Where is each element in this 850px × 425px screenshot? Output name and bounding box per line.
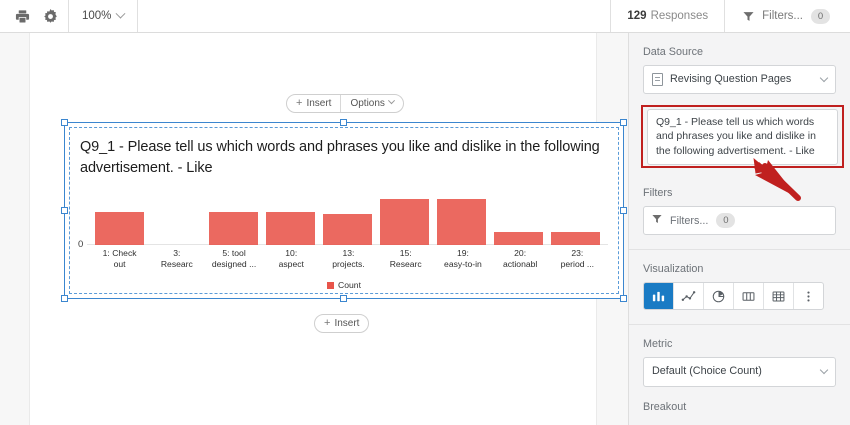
bar[interactable] [209,212,257,245]
x-axis-label: 5: tooldesigned ... [205,248,262,270]
data-source-value: Revising Question Pages [670,72,814,87]
x-axis-label: 23:period ... [549,248,606,270]
filters-badge: 0 [716,213,735,228]
chart-legend: Count [70,280,618,290]
right-settings-panel: Data Source Revising Question Pages Filt… [628,33,850,425]
x-axis-label: 13:projects. [320,248,377,270]
bar-cell[interactable] [376,199,433,245]
legend-swatch-count [327,282,334,289]
bar-series-count [91,199,604,245]
options-button[interactable]: Options [341,95,402,112]
bar[interactable] [95,212,143,245]
bar[interactable] [266,212,314,245]
line-chart-icon[interactable] [674,283,704,309]
insert-options-toolbar: + Insert Options [286,94,404,113]
resize-handle-top-right[interactable] [620,119,627,126]
bar-cell[interactable] [319,199,376,245]
toolbar-icon-group [0,0,68,32]
data-source-label: Data Source [643,46,836,58]
x-axis-labels: 1: Checkout3:Researc5: tooldesigned ...1… [91,248,606,270]
bar-chart-icon[interactable] [644,283,674,309]
resize-handle-bottom-center[interactable] [340,295,347,302]
bar-cell[interactable] [490,199,547,245]
zoom-level-value: 100% [82,10,111,22]
metric-value: Default (Choice Count) [652,364,814,379]
x-axis-label: 1: Checkout [91,248,148,270]
app-root: 100% 129 Responses Filters... 0 [0,0,850,425]
toolbar-filters-badge: 0 [811,9,830,24]
metric-select[interactable]: Default (Choice Count) [643,357,836,386]
document-icon [652,73,663,86]
chevron-down-icon [820,366,828,374]
options-label: Options [350,98,384,109]
filter-funnel-icon [743,11,754,22]
insert-above-label: Insert [306,98,331,109]
bar-cell[interactable] [91,199,148,245]
filters-select[interactable]: Filters... 0 [643,206,836,235]
plus-icon: + [324,318,330,329]
bar[interactable] [380,199,428,245]
insert-below-label: Insert [334,318,359,329]
gear-icon[interactable] [42,8,59,25]
filters-value: Filters... [670,215,708,227]
x-axis-label: 3:Researc [148,248,205,270]
bar-cell[interactable] [148,199,205,245]
report-canvas[interactable]: + Insert Options Q9 [0,33,628,425]
pie-chart-icon[interactable] [704,283,734,309]
insert-below-button[interactable]: + Insert [315,315,368,332]
bar-cell[interactable] [262,199,319,245]
resize-handle-top-left[interactable] [61,119,68,126]
data-source-section: Data Source Revising Question Pages [629,33,850,104]
filter-funnel-icon [652,214,662,227]
metric-label: Metric [643,338,836,350]
visualization-section: Visualization [629,250,850,325]
toolbar-filters-label: Filters... [762,10,803,22]
more-options-icon[interactable] [794,283,823,309]
insert-below-toolbar: + Insert [314,314,369,333]
zoom-level-dropdown[interactable]: 100% [69,0,137,32]
chevron-down-icon [116,8,126,18]
insert-above-button[interactable]: + Insert [287,95,340,112]
bar[interactable] [437,199,485,245]
resize-handle-top-center[interactable] [340,119,347,126]
visualization-label: Visualization [643,263,836,275]
question-select-value: Q9_1 - Please tell us which words and ph… [656,115,823,158]
plus-icon: + [296,98,302,109]
resize-handle-bottom-left[interactable] [61,295,68,302]
bar[interactable] [494,232,542,245]
toolbar-spacer [138,0,610,32]
y-axis-tick-0: 0 [78,240,83,250]
bar[interactable] [323,214,371,245]
responses-counter[interactable]: 129 Responses [611,0,724,32]
toolbar-filters-button[interactable]: Filters... 0 [725,0,850,32]
bar-cell[interactable] [433,199,490,245]
chart-container: Q9_1 - Please tell us which words and ph… [69,127,619,294]
bar[interactable] [551,232,599,245]
bar-cell[interactable] [547,199,604,245]
responses-count: 129 [627,10,646,22]
chevron-down-icon [820,74,828,82]
chevron-down-icon [388,97,395,104]
selected-chart-widget[interactable]: Q9_1 - Please tell us which words and ph… [64,122,624,299]
chart-title: Q9_1 - Please tell us which words and ph… [80,137,608,178]
printer-icon[interactable] [14,8,31,25]
visualization-type-buttons [643,282,824,310]
bar-cell[interactable] [205,199,262,245]
resize-handle-middle-right[interactable] [620,207,627,214]
metric-section: Metric Default (Choice Count) [629,325,850,400]
table-icon[interactable] [764,283,794,309]
data-source-select[interactable]: Revising Question Pages [643,65,836,94]
x-axis-label: 20:actionabl [492,248,549,270]
column-layout-icon[interactable] [734,283,764,309]
x-axis-label: 19:easy-to-in [434,248,491,270]
breakout-label: Breakout [629,401,850,413]
legend-label-count: Count [338,280,361,290]
filters-label: Filters [643,187,836,199]
responses-label: Responses [651,10,709,22]
x-axis-label: 10:aspect [263,248,320,270]
filters-section: Filters Filters... 0 [629,174,850,250]
report-page: + Insert Options Q9 [29,33,597,425]
question-select[interactable]: Q9_1 - Please tell us which words and ph… [647,109,838,165]
top-toolbar: 100% 129 Responses Filters... 0 [0,0,850,33]
x-axis-label: 15:Researc [377,248,434,270]
resize-handle-bottom-right[interactable] [620,295,627,302]
resize-handle-middle-left[interactable] [61,207,68,214]
